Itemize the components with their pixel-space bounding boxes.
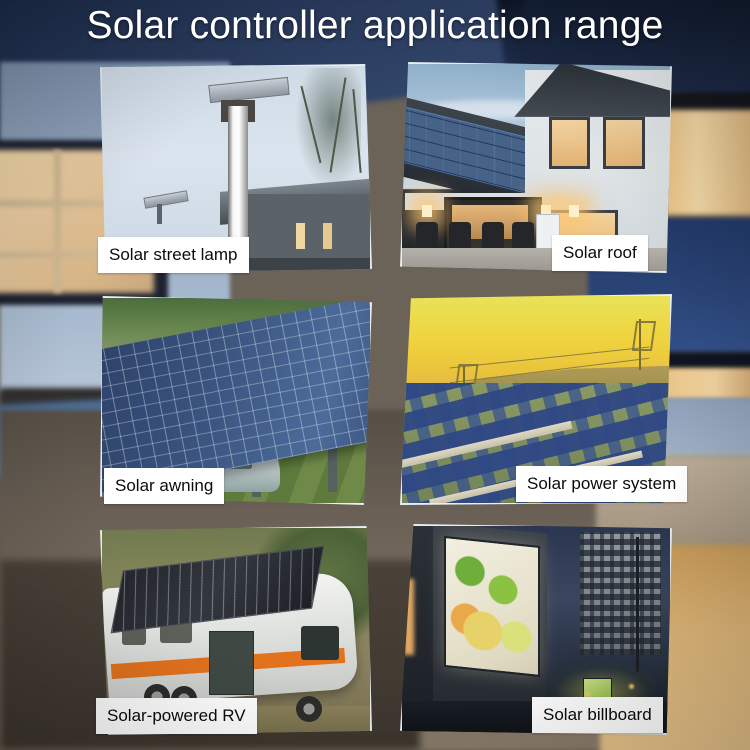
panel-label-solar-powered-rv: Solar-powered RV (96, 698, 257, 734)
street-lamp-distant-mast (157, 204, 162, 224)
panel-label-solar-street-lamp: Solar street lamp (98, 237, 249, 273)
billboard-tower-windows (580, 532, 662, 654)
rv-side-compartment (209, 631, 255, 696)
solar-roof-chair-1 (416, 222, 438, 248)
panel-label-solar-roof: Solar roof (552, 235, 648, 271)
street-lamp-house-window-2 (323, 223, 332, 249)
poster-title: Solar controller application range (0, 4, 750, 48)
panel-label-solar-billboard: Solar billboard (532, 697, 663, 733)
solar-roof-chair-2 (449, 222, 471, 248)
billboard-light-pole (636, 537, 639, 672)
background-window-mullion-v (54, 150, 61, 293)
solar-roof-sconce-3 (569, 205, 579, 217)
panel-label-solar-power-system: Solar power system (516, 466, 687, 502)
street-lamp-house-window-1 (296, 223, 305, 249)
solar-roof-window-1 (549, 117, 590, 169)
solar-roof-window-2 (603, 117, 644, 169)
solar-roof-chair-4 (512, 222, 534, 248)
panel-label-solar-awning: Solar awning (104, 468, 224, 504)
rv-windshield (301, 626, 339, 659)
solar-roof-chair-3 (482, 222, 504, 248)
poster-stage: Solar controller application range Solar… (0, 0, 750, 750)
solar-roof-sconce-1 (422, 205, 432, 217)
billboard-led-screen (444, 536, 540, 677)
billboard-streetlight-2 (629, 684, 634, 689)
